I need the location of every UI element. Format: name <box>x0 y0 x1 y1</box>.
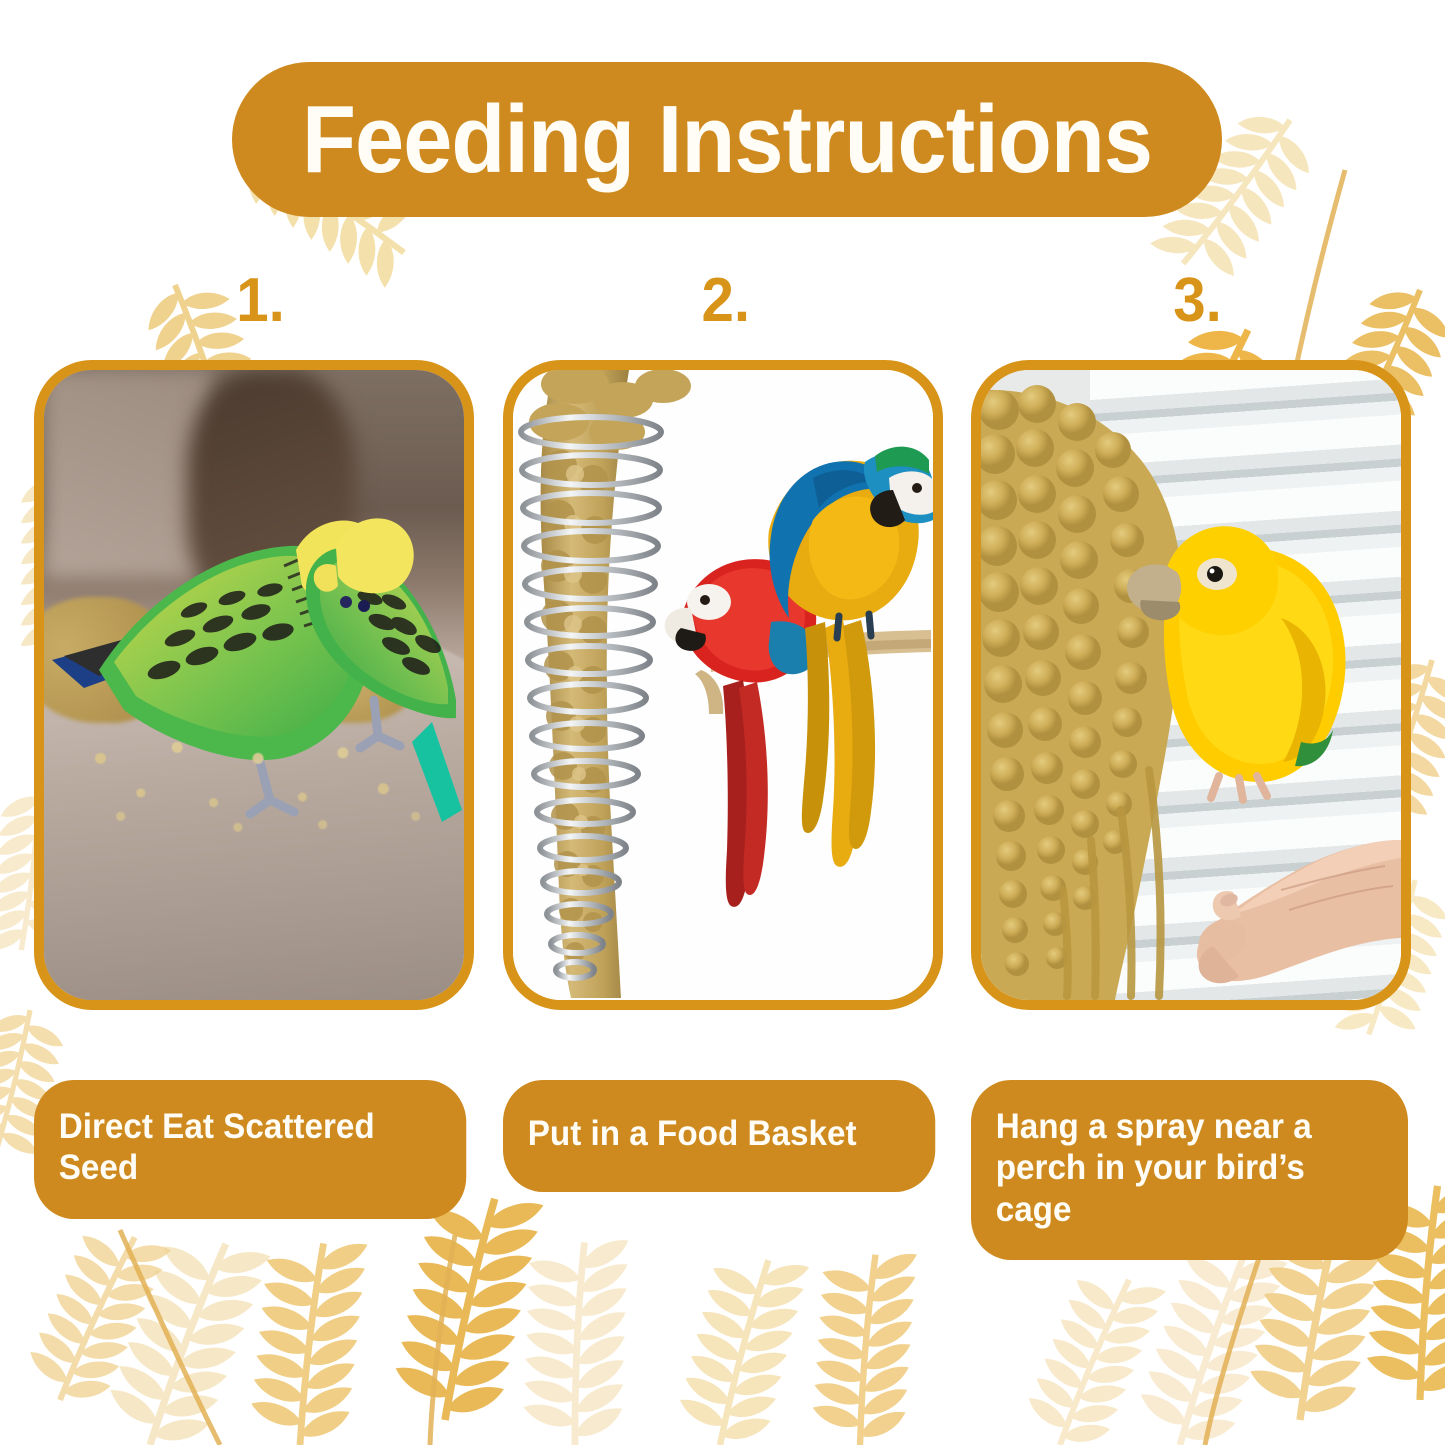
feeding-instructions-infographic: Feeding Instructions 1. <box>0 0 1445 1445</box>
step-3: 3. <box>971 270 1411 1260</box>
step-3-caption: Hang a spray near a perch in your bird’s… <box>971 1080 1408 1260</box>
step-2-caption: Put in a Food Basket <box>503 1080 935 1192</box>
conure-eating-hanging-millet-spray-photo <box>981 370 1401 1000</box>
millet-in-spiral-food-basket-photo <box>513 370 933 1000</box>
page-title-banner: Feeding Instructions <box>232 62 1222 217</box>
steps-row: 1. <box>0 270 1445 1260</box>
budgies-eating-scattered-seed-photo <box>44 370 464 1000</box>
step-1-photo-card <box>34 360 474 1010</box>
step-3-photo-card <box>971 360 1411 1010</box>
step-3-number: 3. <box>984 270 1398 346</box>
step-2: 2. <box>503 270 943 1260</box>
step-2-number: 2. <box>516 270 930 346</box>
step-2-photo-card <box>503 360 943 1010</box>
page-title: Feeding Instructions <box>302 92 1152 188</box>
step-1-caption: Direct Eat Scattered Seed <box>34 1080 466 1219</box>
step-1: 1. <box>34 270 474 1260</box>
step-1-number: 1. <box>47 270 461 346</box>
